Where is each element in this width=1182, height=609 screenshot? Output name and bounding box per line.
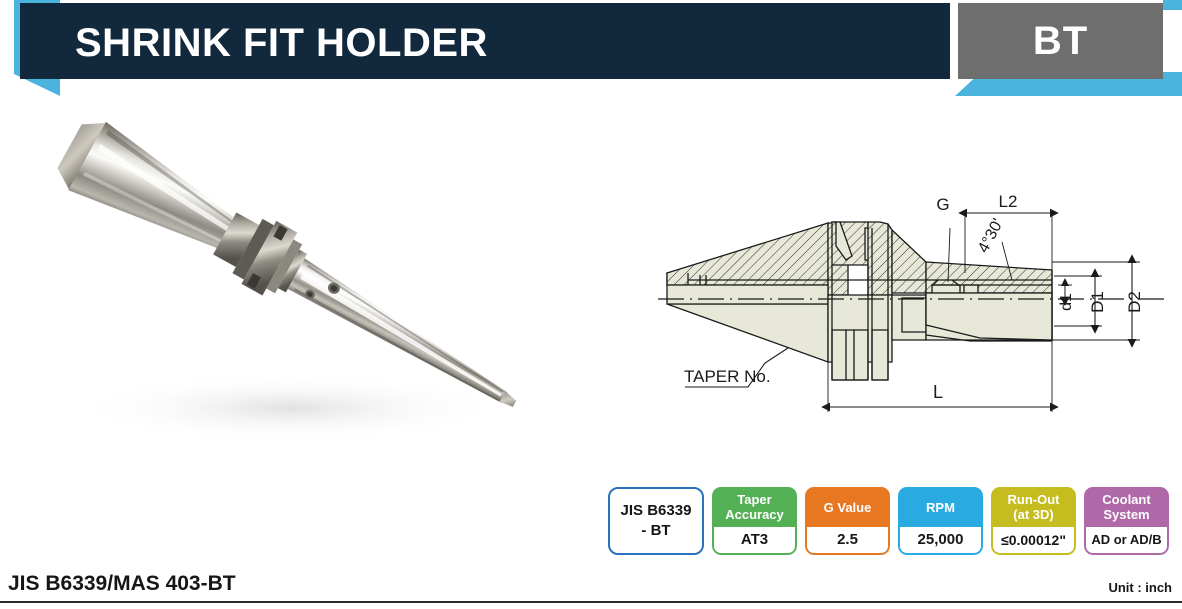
spec-badge-run-out-head: Run-Out (at 3D) [991, 487, 1076, 527]
run-out-head-line1: Run-Out [1008, 492, 1060, 507]
label-d1: D1 [1088, 291, 1107, 313]
label-l2: L2 [999, 192, 1018, 211]
spec-badge-g-value-value: 2.5 [805, 527, 890, 555]
label-taper-no: TAPER No. [684, 367, 771, 386]
page-title: SHRINK FIT HOLDER [75, 13, 488, 73]
spec-badge-standard-line1: JIS B6339 [621, 501, 692, 521]
spec-badge-coolant-system: Coolant System AD or AD/B [1084, 487, 1169, 555]
spec-badge-rpm: RPM 25,000 [898, 487, 983, 555]
run-out-head-line2: (at 3D) [1013, 507, 1053, 522]
spec-badge-taper-accuracy-head: Taper Accuracy [712, 487, 797, 527]
spec-badge-g-value-head: G Value [805, 487, 890, 527]
taper-accuracy-head-line1: Taper [737, 492, 771, 507]
spec-badge-standard-line2: - BT [621, 521, 692, 541]
taper-accuracy-head-line2: Accuracy [725, 507, 784, 522]
shrink-fit-holder-photo [40, 118, 610, 478]
right-ribbon-top-sliver [1163, 0, 1182, 10]
spec-badge-rpm-value: 25,000 [898, 527, 983, 555]
label-angle: 4°30' [975, 216, 1007, 256]
title-plate: SHRINK FIT HOLDER [20, 3, 950, 79]
spec-badge-taper-accuracy-value: AT3 [712, 527, 797, 555]
coolant-head-line2: System [1103, 507, 1149, 522]
cross-section-diagram: G L2 4°30' d1 D1 D2 L TAPER No. [640, 180, 1180, 420]
footer-standard-label: JIS B6339/MAS 403-BT [8, 572, 236, 596]
spec-badge-coolant-system-value: AD or AD/B [1084, 527, 1169, 555]
footer-divider [0, 601, 1182, 603]
label-l: L [933, 382, 943, 402]
label-d1-small: d1 [1058, 293, 1075, 311]
page-header: SHRINK FIT HOLDER BT [0, 0, 1182, 110]
taper-type-label: BT [958, 3, 1163, 79]
footer-unit-label: Unit : inch [1108, 580, 1172, 595]
technical-drawing: G L2 4°30' d1 D1 D2 L TAPER No. [640, 180, 1180, 420]
label-g: G [936, 195, 949, 214]
coolant-head-line1: Coolant [1102, 492, 1150, 507]
product-photo [40, 118, 610, 478]
spec-badge-g-value: G Value 2.5 [805, 487, 890, 555]
label-d2: D2 [1125, 291, 1144, 313]
spec-badge-coolant-system-head: Coolant System [1084, 487, 1169, 527]
taper-type-badge: BT [958, 3, 1163, 79]
spec-badge-standard: JIS B6339 - BT [608, 487, 704, 555]
spec-badge-taper-accuracy: Taper Accuracy AT3 [712, 487, 797, 555]
spec-badge-run-out: Run-Out (at 3D) ≤0.00012" [991, 487, 1076, 555]
spec-badge-row: JIS B6339 - BT Taper Accuracy AT3 G Valu… [608, 487, 1169, 555]
spec-badge-rpm-head: RPM [898, 487, 983, 527]
spec-badge-run-out-value: ≤0.00012" [991, 527, 1076, 555]
